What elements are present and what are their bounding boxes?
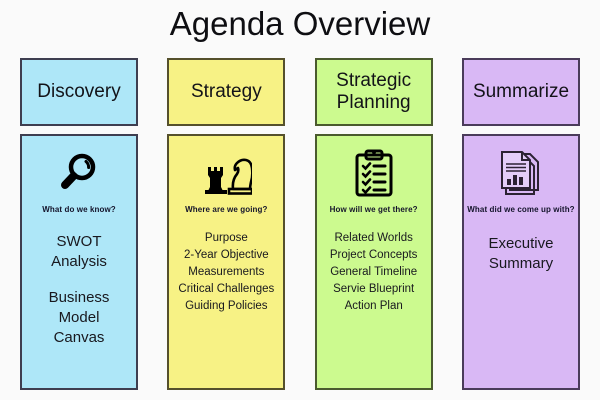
column-items-discovery: SWOT Analysis Business Model Canvas [22,232,136,348]
magnifying-glass-icon [56,145,102,201]
list-item: General Timeline [317,264,431,281]
column-header-strategy: Strategy [167,58,285,126]
list-item: 2-Year Objective [169,247,283,264]
column-header-discovery: Discovery [20,58,138,126]
column-header-strategic-planning: Strategic Planning [315,58,433,126]
column-body-strategic-planning: How will we get there? Related Worlds Pr… [315,134,433,390]
list-item: Measurements [169,264,283,281]
agenda-column-strategy[interactable]: Strategy Where are we going? Purpose 2-Y… [167,58,285,390]
list-item: Related Worlds [317,230,431,247]
column-question-strategy: Where are we going? [185,205,267,214]
list-item: Guiding Policies [169,298,283,315]
documents-chart-icon [496,145,546,201]
list-item: Project Concepts [317,247,431,264]
agenda-column-strategic-planning[interactable]: Strategic Planning [315,58,433,390]
column-header-summarize: Summarize [462,58,580,126]
column-body-strategy: Where are we going? Purpose 2-Year Objec… [167,134,285,390]
column-question-discovery: What do we know? [42,205,116,214]
list-item: Action Plan [317,298,431,315]
agenda-column-discovery[interactable]: Discovery What do we know? SWOT Analysis… [20,58,138,390]
column-question-strategic-planning: How will we get there? [330,205,418,214]
column-items-summarize: Executive Summary [464,234,578,274]
column-question-summarize: What did we come up with? [467,205,574,214]
list-item: Canvas [22,328,136,348]
list-item: Business [22,288,136,308]
list-item: Model [22,308,136,328]
column-items-strategic-planning: Related Worlds Project Concepts General … [317,230,431,315]
list-item: Servie Blueprint [317,281,431,298]
agenda-columns: Discovery What do we know? SWOT Analysis… [20,58,580,390]
clipboard-checklist-icon [353,145,395,201]
list-item: Analysis [22,252,136,272]
list-item: Purpose [169,230,283,247]
column-items-strategy: Purpose 2-Year Objective Measurements Cr… [169,230,283,315]
column-body-discovery: What do we know? SWOT Analysis Business … [20,134,138,390]
list-item: Critical Challenges [169,281,283,298]
list-item: Executive [464,234,578,254]
page-title: Agenda Overview [0,0,600,46]
list-item: SWOT [22,232,136,252]
list-item: Summary [464,254,578,274]
chess-pieces-icon [200,145,252,201]
column-body-summarize: What did we come up with? Executive Summ… [462,134,580,390]
agenda-column-summarize[interactable]: Summarize [462,58,580,390]
